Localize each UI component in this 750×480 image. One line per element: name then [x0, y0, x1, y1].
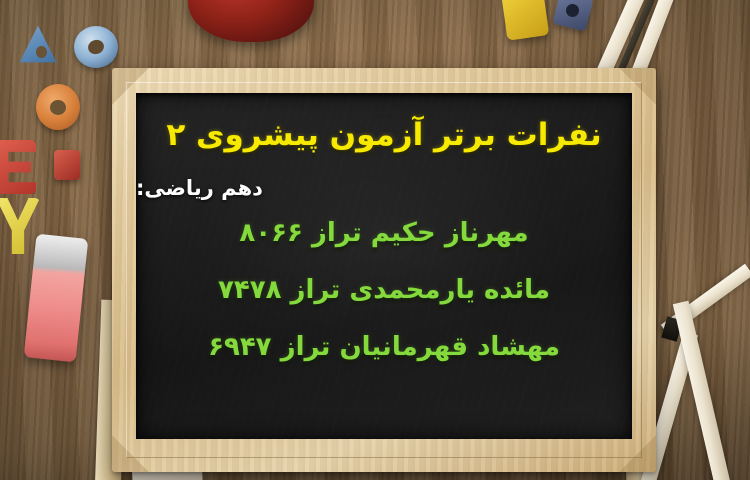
board-title: نفرات برتر آزمون پیشروی ۲ [166, 116, 601, 155]
pencil-sharpener-hole [566, 4, 579, 17]
screenshot-stage: نفرات برتر آزمون پیشروی ۲ دهم ریاضی: مهر… [0, 0, 750, 480]
list-item: مهشاد قهرمانیان تراز ۶۹۴۷ [136, 332, 632, 363]
board-subtitle: دهم ریاضی: [136, 175, 263, 202]
list-item: مهرناز حکیم تراز ۸۰۶۶ [136, 218, 632, 249]
letter-magnet-e-prop [0, 140, 36, 194]
top-students-list: مهرناز حکیم تراز ۸۰۶۶ مائده یارمحمدی ترا… [136, 218, 632, 364]
letter-magnet-b-prop [54, 150, 80, 180]
chalkboard-wooden-frame: نفرات برتر آزمون پیشروی ۲ دهم ریاضی: مهر… [112, 68, 656, 472]
tape-measure-prop [501, 0, 550, 41]
letter-magnet-c-hole [50, 100, 66, 115]
list-item: مائده یارمحمدی تراز ۷۴۷۸ [136, 275, 632, 306]
chalkboard-surface: نفرات برتر آزمون پیشروی ۲ دهم ریاضی: مهر… [136, 93, 632, 439]
letter-magnet-a-hole [36, 46, 47, 58]
